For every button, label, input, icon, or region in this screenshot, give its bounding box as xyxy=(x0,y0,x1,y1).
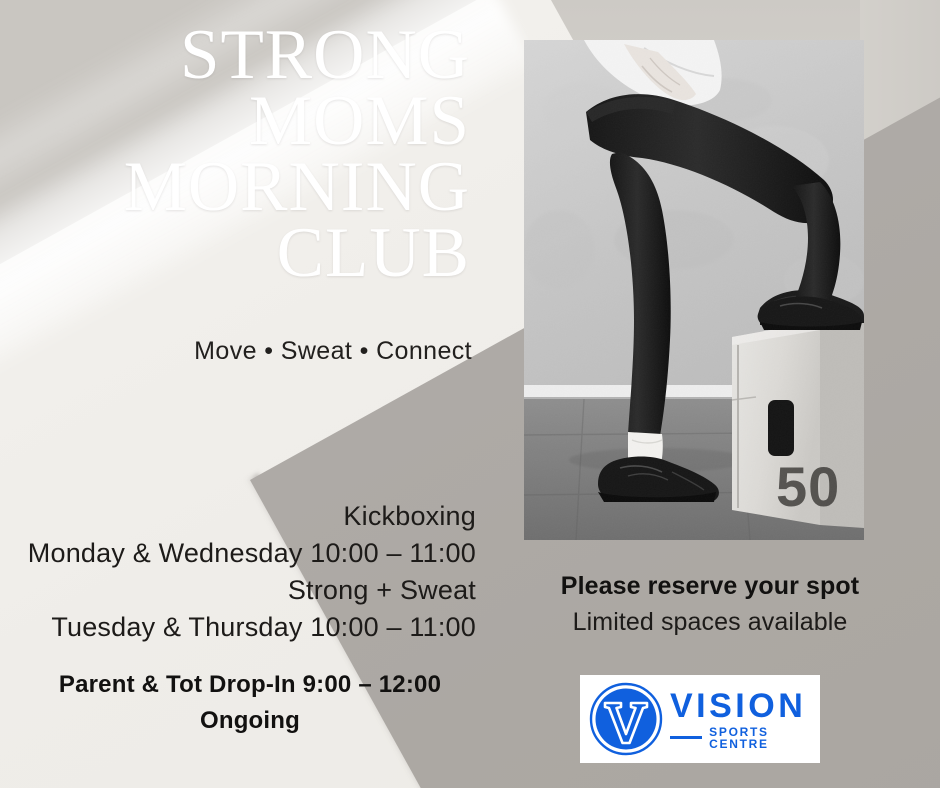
drop-in-line-ongoing: Ongoing xyxy=(20,703,480,739)
logo-word-sports-centre: SPORTS CENTRE xyxy=(709,726,820,750)
headline-line-1: STRONG xyxy=(40,22,470,88)
schedule-line-strong-sweat: Strong + Sweat xyxy=(20,572,476,609)
logo-wordmark: VISION SPORTS CENTRE xyxy=(670,689,820,750)
logo-word-vision: VISION xyxy=(670,687,806,725)
svg-text:50: 50 xyxy=(776,455,840,518)
reserve-subline: Limited spaces available xyxy=(500,608,920,637)
logo-subtitle-row: SPORTS CENTRE xyxy=(670,726,820,750)
logo-rule-divider xyxy=(670,736,702,739)
schedule-line-kickboxing-times: Monday & Wednesday 10:00 – 11:00 xyxy=(20,535,476,572)
schedule-line-strong-sweat-times: Tuesday & Thursday 10:00 – 11:00 xyxy=(20,609,476,646)
poster: STRONG MOMS MORNING CLUB Move • Sweat • … xyxy=(0,0,940,788)
fitness-photo: 50 xyxy=(524,40,864,540)
headline-line-3: MORNING xyxy=(40,154,470,220)
vision-v-monogram-icon xyxy=(588,681,664,757)
reserve-headline: Please reserve your spot xyxy=(500,572,920,601)
vision-sports-centre-logo: VISION SPORTS CENTRE xyxy=(580,675,820,763)
tagline: Move • Sweat • Connect xyxy=(40,337,472,366)
schedule-line-kickboxing: Kickboxing xyxy=(20,498,476,535)
headline-line-2: MOMS xyxy=(40,88,470,154)
class-schedule: Kickboxing Monday & Wednesday 10:00 – 11… xyxy=(20,498,476,646)
drop-in-info: Parent & Tot Drop-In 9:00 – 12:00 Ongoin… xyxy=(20,667,480,738)
page-title: STRONG MOMS MORNING CLUB xyxy=(40,22,470,286)
drop-in-line-times: Parent & Tot Drop-In 9:00 – 12:00 xyxy=(20,667,480,703)
headline-line-4: CLUB xyxy=(40,220,470,286)
